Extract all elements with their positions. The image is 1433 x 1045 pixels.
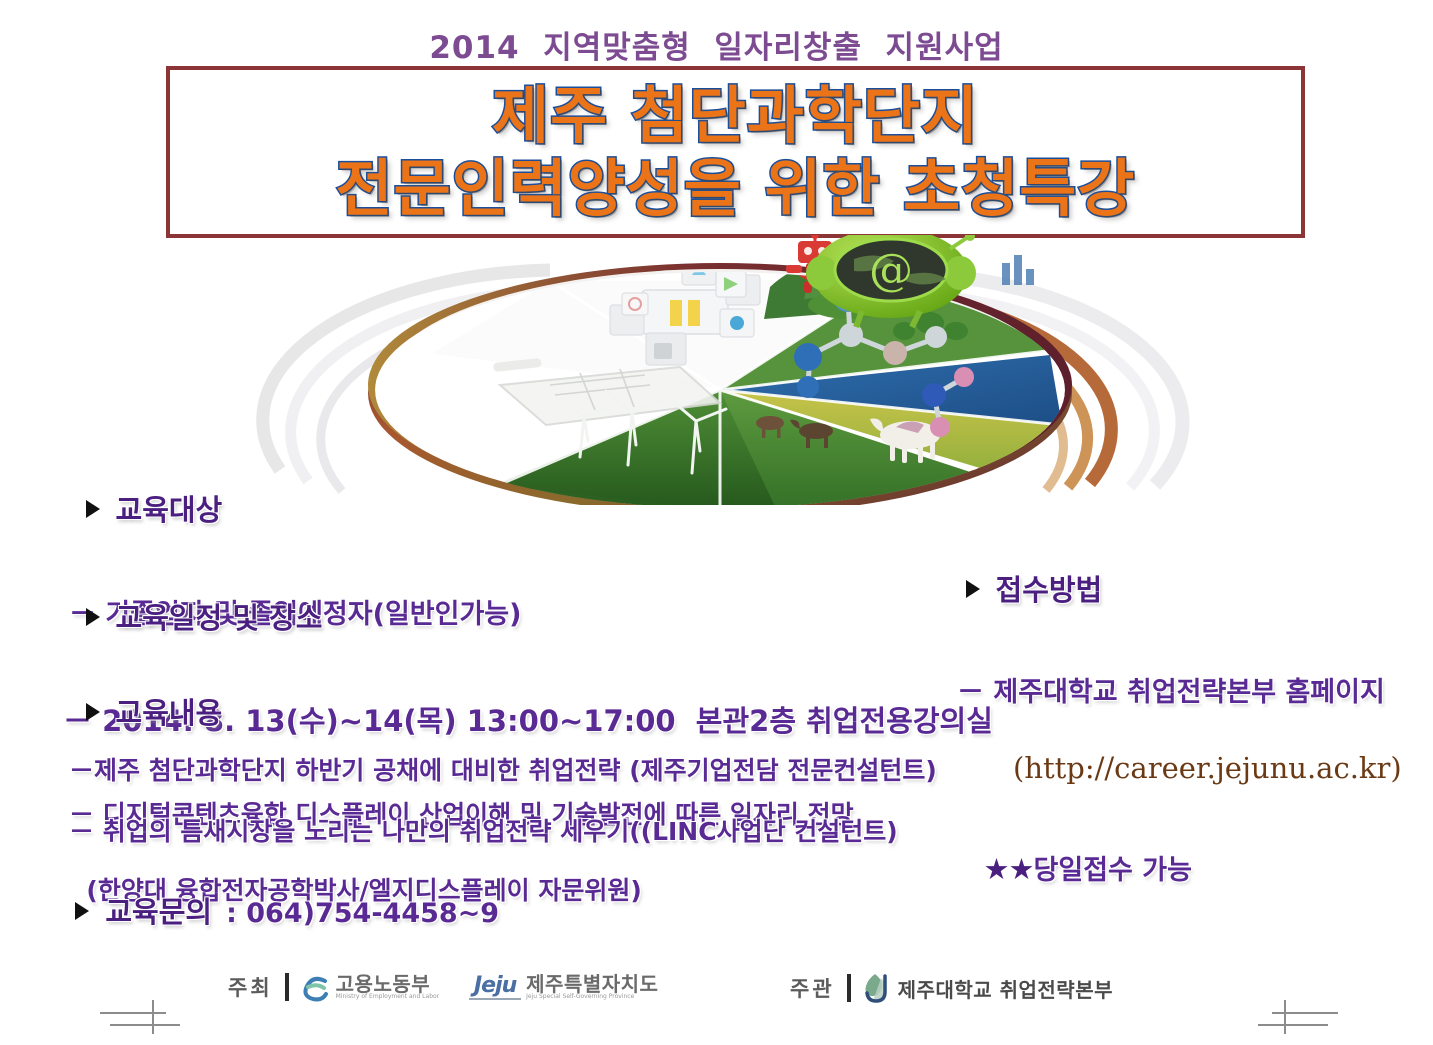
footer-logo-jeju-name: 제주특별자치도 xyxy=(526,974,658,994)
footer-logo-jeju-sub: Jeju Special Self-Governing Province xyxy=(526,994,658,1000)
molab-e-icon xyxy=(301,972,331,1002)
footer-divider xyxy=(847,974,851,1002)
red-robot-icon xyxy=(786,235,844,293)
title-inner: 제주 첨단과학단지 전문인력양성을 위한 초청특강 xyxy=(170,79,1301,225)
title-box: 제주 첨단과학단지 전문인력양성을 위한 초청특강 xyxy=(166,66,1305,238)
section-registration-method: － 제주대학교 취업전략본부 홈페이지 xyxy=(957,670,1402,709)
footer-logo-molab: 고용노동부 Ministry of Employment and Labor xyxy=(301,972,440,1002)
title-line-1: 제주 첨단과학단지 xyxy=(170,79,1301,152)
triangle-bullet-icon xyxy=(75,902,89,920)
section-registration-heading-row: 접수방법 xyxy=(935,548,1402,628)
crop-mark-bottom-right xyxy=(1258,1000,1338,1040)
triangle-bullet-icon xyxy=(966,580,980,598)
registration-note: 당일접수 가능 xyxy=(1034,855,1192,886)
section-contact-heading: 교육문의 xyxy=(105,895,212,929)
horses-icon xyxy=(756,416,940,463)
smart-building-blocks-icon xyxy=(610,257,760,365)
program-eyebrow: 2014 지역맞춤형 일자리창출 지원사업 xyxy=(0,22,1433,67)
section-contact: 교육문의: 064)754-4458~9 xyxy=(55,870,499,950)
section-curriculum-heading: 교육내용 xyxy=(116,696,223,730)
colored-arrow-arcs xyxy=(910,295,1111,490)
svg-text:@: @ xyxy=(869,245,913,296)
footer-logo-jejunu-name: 제주대학교 취업전략본부 xyxy=(898,974,1113,1003)
section-contact-value: : 064)754-4458~9 xyxy=(226,898,499,929)
section-target-heading-row: 교육대상 xyxy=(55,468,521,548)
triangle-bullet-icon xyxy=(86,500,100,518)
title-line-2: 전문인력양성을 위한 초청특강 xyxy=(170,152,1301,225)
star-icon: ★★ xyxy=(984,852,1034,886)
green-mountain-icon xyxy=(764,250,968,340)
footer-host-group: 주최 고용노동부 Ministry of Employment and Labo… xyxy=(228,972,658,1002)
registration-note-row: ★★당일접수 가능 xyxy=(953,829,1402,906)
blueprint-icon xyxy=(493,358,720,425)
registration-url[interactable]: (http://career.jejunu.ac.kr) xyxy=(1013,751,1402,785)
crop-mark-bottom-left xyxy=(100,1000,180,1040)
footer-logo-molab-name: 고용노동부 xyxy=(336,974,440,994)
green-at-globe-icon: @ xyxy=(806,235,1034,327)
molecule-icon xyxy=(794,282,974,437)
footer-organizer-label: 주관 xyxy=(790,973,835,1003)
footer-logo-jejunu: 제주대학교 취업전략본부 xyxy=(863,972,1113,1004)
triangle-bullet-icon xyxy=(86,608,100,626)
footer-logo-molab-sub: Ministry of Employment and Labor xyxy=(336,994,440,1000)
wind-turbine-icon xyxy=(562,391,726,473)
footer-divider xyxy=(285,973,289,1001)
section-curriculum-item-3: － 취업의 틈새시장을 노리는 나만의 취업전략 세우기((LINC사업단 컨설… xyxy=(69,812,898,848)
section-registration-heading: 접수방법 xyxy=(996,573,1103,607)
section-curriculum-heading-row: 교육내용 xyxy=(55,671,854,751)
footer-logo-jeju: Jeju 제주특별자치도 Jeju Special Self-Governing… xyxy=(469,974,658,1000)
swoosh-arcs-right xyxy=(940,275,1183,487)
section-target-heading: 교육대상 xyxy=(116,493,223,527)
jeju-wordmark-icon: Jeju xyxy=(474,974,516,998)
section-curriculum-item-2: －제주 첨단과학단지 하반기 공채에 대비한 취업전략 (제주기업전담 전문컨설… xyxy=(69,751,937,787)
footer-host-label: 주최 xyxy=(228,972,273,1002)
section-registration: 접수방법 － 제주대학교 취업전략본부 홈페이지 (http://career.… xyxy=(935,510,1402,944)
triangle-bullet-icon xyxy=(86,703,100,721)
jejunu-flame-icon xyxy=(863,972,893,1004)
footer-organizer-group: 주관 제주대학교 취업전략본부 xyxy=(790,972,1113,1004)
section-schedule-heading: 교육일정 및 장소 xyxy=(116,601,323,635)
poster-canvas: 2014 지역맞춤형 일자리창출 지원사업 제주 첨단과학단지 전문인력양성을 … xyxy=(0,0,1433,1045)
